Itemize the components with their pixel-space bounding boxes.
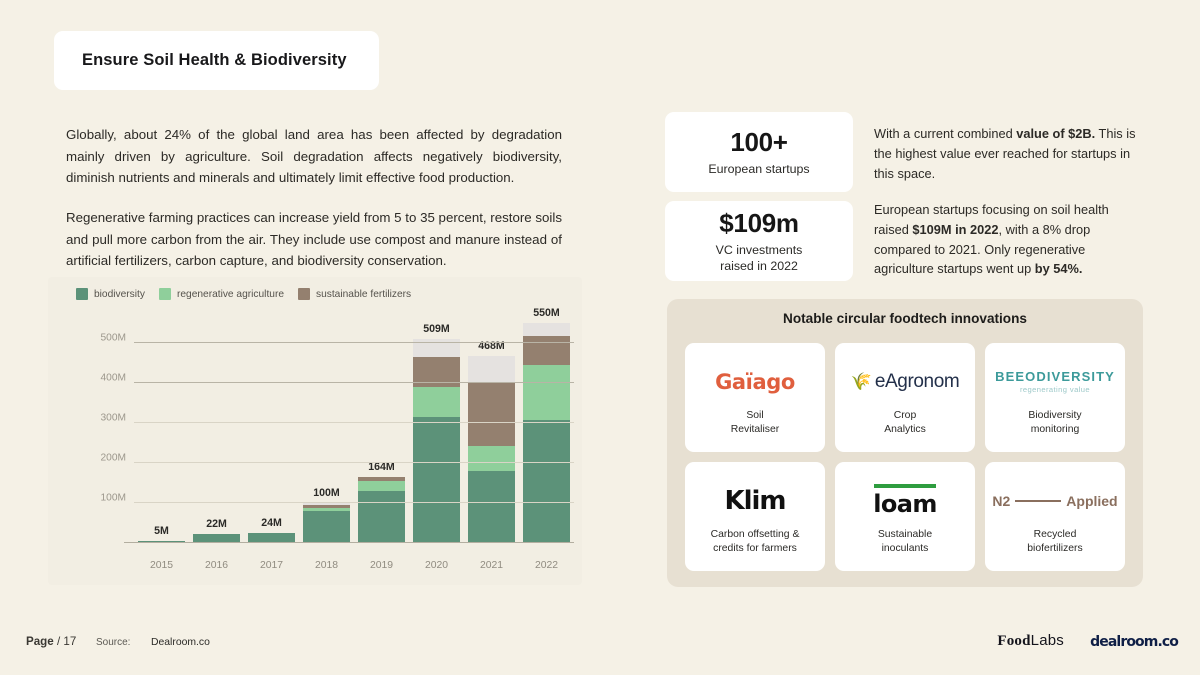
foodlabs-logo-food: Food	[997, 633, 1030, 649]
chart-segment-other[interactable]	[468, 356, 515, 383]
chart-bar-total-label: 5M	[154, 525, 169, 537]
innovation-card-caption: SoilRevitaliser	[731, 409, 780, 436]
eagronom-wordmark: 🌾eAgronom	[851, 371, 960, 393]
slide-footer: Page / 17 Source: Dealroom.co FoodLabs d…	[0, 619, 1200, 675]
gaiago-wordmark: Gaïago	[715, 370, 795, 394]
note-emphasis: by 54%.	[1035, 261, 1083, 276]
stat-value: $109m	[719, 208, 798, 239]
stat-value: 100+	[730, 127, 787, 158]
legend-swatch-icon	[159, 288, 171, 300]
loam-wordmark: loam	[873, 484, 937, 518]
legend-item-sustainable-fertilizers: sustainable fertilizers	[298, 288, 411, 300]
legend-swatch-icon	[298, 288, 310, 300]
chart-y-tick-label: 300M	[101, 413, 126, 424]
chart-bar-total-label: 22M	[206, 518, 227, 530]
chart-x-tick-label: 2019	[354, 560, 409, 571]
innovation-card[interactable]: KlimCarbon offsetting &credits for farme…	[685, 462, 825, 571]
page-word: Page	[26, 635, 54, 648]
legend-item-biodiversity: biodiversity	[76, 288, 145, 300]
side-note-1: With a current combined value of $2B. Th…	[874, 124, 1142, 183]
chart-segment-biodiversity[interactable]	[523, 420, 570, 543]
chart-x-tick-label: 2015	[134, 560, 189, 571]
chart-stacked-bar[interactable]: 550M	[523, 323, 570, 543]
chart-bar-group[interactable]: 24M	[244, 319, 299, 543]
chart-plot-area: 5M22M24M100M164M509M468M550M 100M200M300…	[134, 319, 574, 543]
chart-bar-total-label: 164M	[368, 461, 395, 473]
innovation-card[interactable]: GaïagoSoilRevitaliser	[685, 343, 825, 452]
chart-stacked-bar[interactable]: 164M	[358, 477, 405, 543]
chart-y-tick-label: 100M	[101, 493, 126, 504]
chart-gridline	[134, 502, 574, 503]
chart-segment-sustainable-fertilizers[interactable]	[468, 383, 515, 446]
stat-label: VC investmentsraised in 2022	[716, 243, 803, 274]
note-text: With a current combined	[874, 126, 1016, 141]
chart-gridline	[134, 382, 574, 383]
note-emphasis: $109M in 2022	[912, 222, 998, 237]
legend-label: regenerative agriculture	[177, 289, 284, 300]
chart-x-axis	[124, 542, 574, 544]
chart-x-tick-label: 2018	[299, 560, 354, 571]
innovations-heading: Notable circular foodtech innovations	[667, 311, 1143, 326]
chart-segment-regenerative-agriculture[interactable]	[413, 387, 460, 417]
page-number: / 17	[57, 635, 76, 648]
chart-x-tick-label: 2020	[409, 560, 464, 571]
chart-segment-biodiversity[interactable]	[358, 491, 405, 543]
chart-stacked-bar[interactable]: 100M	[303, 503, 350, 543]
innovation-card[interactable]: loamSustainableinoculants	[835, 462, 975, 571]
chart-gridline	[134, 342, 574, 343]
innovation-card-caption: Recycledbiofertilizers	[1027, 528, 1082, 555]
chart-y-tick-label: 500M	[101, 333, 126, 344]
innovation-card-caption: Sustainableinoculants	[878, 528, 932, 555]
chart-x-tick-label: 2021	[464, 560, 519, 571]
chart-stacked-bar[interactable]: 509M	[413, 339, 460, 543]
chart-bar-total-label: 100M	[313, 487, 340, 499]
page-title: Ensure Soil Health & Biodiversity	[82, 51, 347, 70]
slide-title-card: Ensure Soil Health & Biodiversity	[54, 31, 379, 90]
legend-swatch-icon	[76, 288, 88, 300]
chart-x-tick-labels: 20152016201720182019202020212022	[134, 560, 574, 571]
chart-bar-group[interactable]: 5M	[134, 319, 189, 543]
source-label: Source:	[96, 637, 130, 648]
wheat-icon: 🌾	[851, 372, 872, 392]
legend-item-regenerative-agriculture: regenerative agriculture	[159, 288, 284, 300]
chart-bar-group[interactable]: 100M	[299, 319, 354, 543]
chart-segment-biodiversity[interactable]	[468, 471, 515, 543]
chart-x-tick-label: 2017	[244, 560, 299, 571]
gaiago-logo: Gaïago	[715, 359, 795, 405]
page-indicator: Page / 17	[26, 635, 76, 648]
funding-chart-panel: biodiversityregenerative agriculturesust…	[48, 277, 582, 585]
chart-segment-biodiversity[interactable]	[413, 417, 460, 543]
chart-segment-biodiversity[interactable]	[303, 511, 350, 543]
beeodiversity-wordmark: BEEODIVERSITYregenerating value	[995, 369, 1115, 394]
chart-bar-total-label: 24M	[261, 517, 282, 529]
n2applied-wordmark: N2Applied	[992, 493, 1117, 509]
foodlabs-logo: FoodLabs	[997, 632, 1064, 650]
n2applied-logo: N2Applied	[992, 478, 1117, 524]
stat-card-vc-investments: $109m VC investmentsraised in 2022	[665, 201, 853, 281]
stat-label: European startups	[708, 162, 809, 178]
chart-stacked-bar[interactable]: 468M	[468, 356, 515, 543]
chart-bar-group[interactable]: 509M	[409, 319, 464, 543]
innovation-card-caption: Biodiversitymonitoring	[1028, 409, 1081, 436]
innovation-card-caption: Carbon offsetting &credits for farmers	[711, 528, 800, 555]
innovations-grid: GaïagoSoilRevitaliser🌾eAgronomCropAnalyt…	[685, 343, 1125, 571]
chart-y-tick-label: 200M	[101, 453, 126, 464]
side-note-2: European startups focusing on soil healt…	[874, 200, 1142, 279]
slide-root: Ensure Soil Health & Biodiversity Global…	[0, 0, 1200, 675]
innovation-card-caption: CropAnalytics	[884, 409, 926, 436]
note-emphasis: value of $2B.	[1016, 126, 1095, 141]
chart-segment-regenerative-agriculture[interactable]	[523, 365, 570, 420]
chart-bar-group[interactable]: 22M	[189, 319, 244, 543]
dealroom-logo: dealroom.co	[1090, 634, 1178, 650]
stat-card-startups: 100+ European startups	[665, 112, 853, 192]
innovations-panel: Notable circular foodtech innovations Ga…	[667, 299, 1143, 587]
chart-x-tick-label: 2022	[519, 560, 574, 571]
chart-segment-regenerative-agriculture[interactable]	[468, 446, 515, 471]
chart-y-tick-label: 400M	[101, 373, 126, 384]
legend-label: biodiversity	[94, 289, 145, 300]
eagronom-logo: 🌾eAgronom	[851, 359, 960, 405]
chart-bar-total-label: 550M	[533, 307, 560, 319]
chart-segment-other[interactable]	[523, 323, 570, 336]
dash-icon	[1015, 500, 1061, 502]
loam-logo: loam	[873, 478, 937, 524]
chart-legend: biodiversityregenerative agriculturesust…	[76, 288, 411, 300]
chart-gridline	[134, 422, 574, 423]
foodlabs-logo-labs: Labs	[1031, 632, 1064, 649]
klim-logo: Klim	[724, 478, 785, 524]
beeodiversity-logo: BEEODIVERSITYregenerating value	[995, 359, 1115, 405]
chart-segment-regenerative-agriculture[interactable]	[358, 481, 405, 490]
chart-bar-group[interactable]: 164M	[354, 319, 409, 543]
body-paragraph-2: Regenerative farming practices can incre…	[66, 207, 562, 272]
chart-bar-total-label: 509M	[423, 323, 450, 335]
legend-label: sustainable fertilizers	[316, 289, 411, 300]
loam-rule-icon	[874, 484, 936, 488]
innovation-card[interactable]: N2AppliedRecycledbiofertilizers	[985, 462, 1125, 571]
chart-segment-sustainable-fertilizers[interactable]	[523, 336, 570, 365]
chart-bar-group[interactable]: 468M	[464, 319, 519, 543]
chart-x-tick-label: 2016	[189, 560, 244, 571]
innovation-card[interactable]: 🌾eAgronomCropAnalytics	[835, 343, 975, 452]
innovation-card[interactable]: BEEODIVERSITYregenerating valueBiodivers…	[985, 343, 1125, 452]
klim-wordmark: Klim	[724, 486, 785, 516]
chart-bar-group[interactable]: 550M	[519, 319, 574, 543]
source-value: Dealroom.co	[151, 637, 210, 648]
chart-gridline	[134, 462, 574, 463]
body-paragraph-1: Globally, about 24% of the global land a…	[66, 124, 562, 189]
chart-bars: 5M22M24M100M164M509M468M550M	[134, 319, 574, 543]
